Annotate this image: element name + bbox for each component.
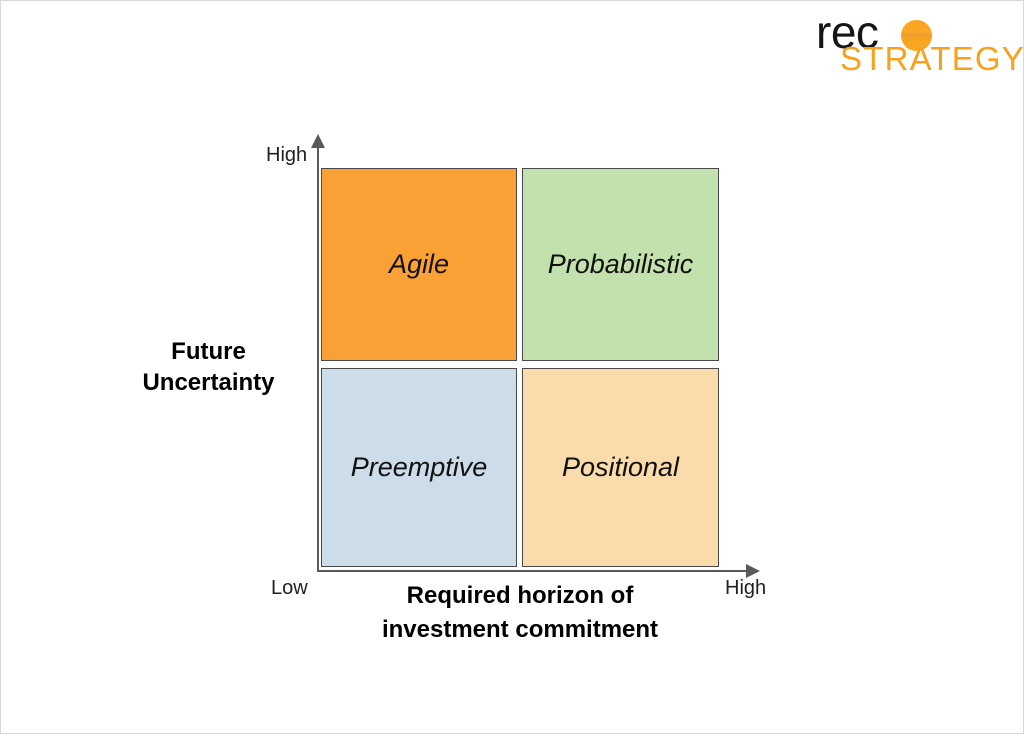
quadrant-label-probabilistic: Probabilistic [548, 249, 694, 280]
quadrant-positional[interactable]: Positional [522, 368, 719, 567]
x-axis-title: Required horizon of investment commitmen… [291, 579, 749, 647]
quadrant-label-preemptive: Preemptive [351, 452, 488, 483]
y-axis-high-tick-label: High [266, 144, 307, 167]
slide-canvas: recon STRATEGY High Low High Future Unce… [0, 0, 1024, 734]
quadrant-label-agile: Agile [389, 249, 449, 280]
y-axis-title-line-2: Uncertainty [111, 367, 306, 398]
quadrant-probabilistic[interactable]: Probabilistic [522, 168, 719, 361]
y-axis-title: Future Uncertainty [111, 336, 306, 398]
x-axis-arrow-icon [746, 564, 760, 578]
quadrant-agile[interactable]: Agile [321, 168, 517, 361]
y-axis-title-line-1: Future [111, 336, 306, 367]
y-axis-line [317, 146, 319, 572]
quadrant-preemptive[interactable]: Preemptive [321, 368, 517, 567]
x-axis-title-line-1: Required horizon of [291, 579, 749, 613]
quadrant-label-positional: Positional [562, 452, 679, 483]
x-axis-line [317, 570, 749, 572]
y-axis-arrow-icon [311, 134, 325, 148]
x-axis-title-line-2: investment commitment [291, 613, 749, 647]
recon-strategy-logo: recon STRATEGY [816, 9, 1006, 81]
logo-tagline: STRATEGY [840, 42, 1024, 75]
